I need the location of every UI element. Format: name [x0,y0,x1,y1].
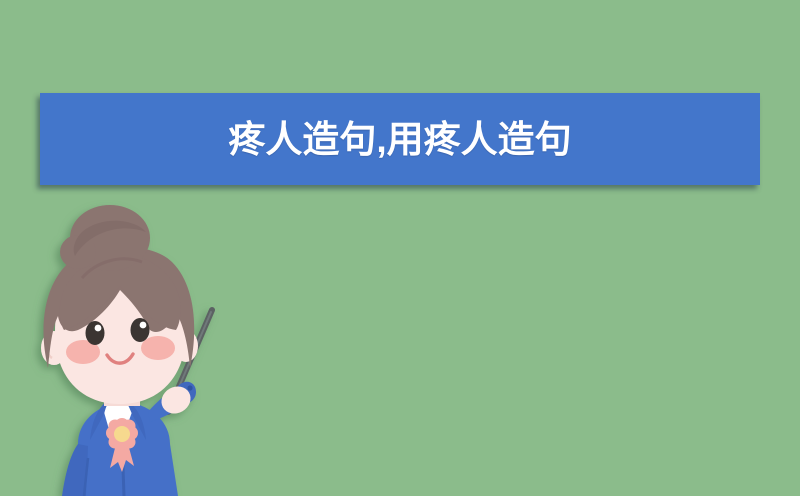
blush-right [141,336,175,360]
page-title: 疼人造句,用疼人造句 [228,121,571,158]
brooch-center [114,426,130,442]
teacher-body-group [41,205,212,496]
title-banner: 疼人造句,用疼人造句 [40,93,760,185]
teacher-figure-svg [0,200,260,496]
sleeve-button [187,385,192,390]
page-root: 疼人造句,用疼人造句 [0,0,800,496]
eye-left [86,321,105,345]
eye-right [131,318,150,342]
teacher-illustration [0,200,260,496]
